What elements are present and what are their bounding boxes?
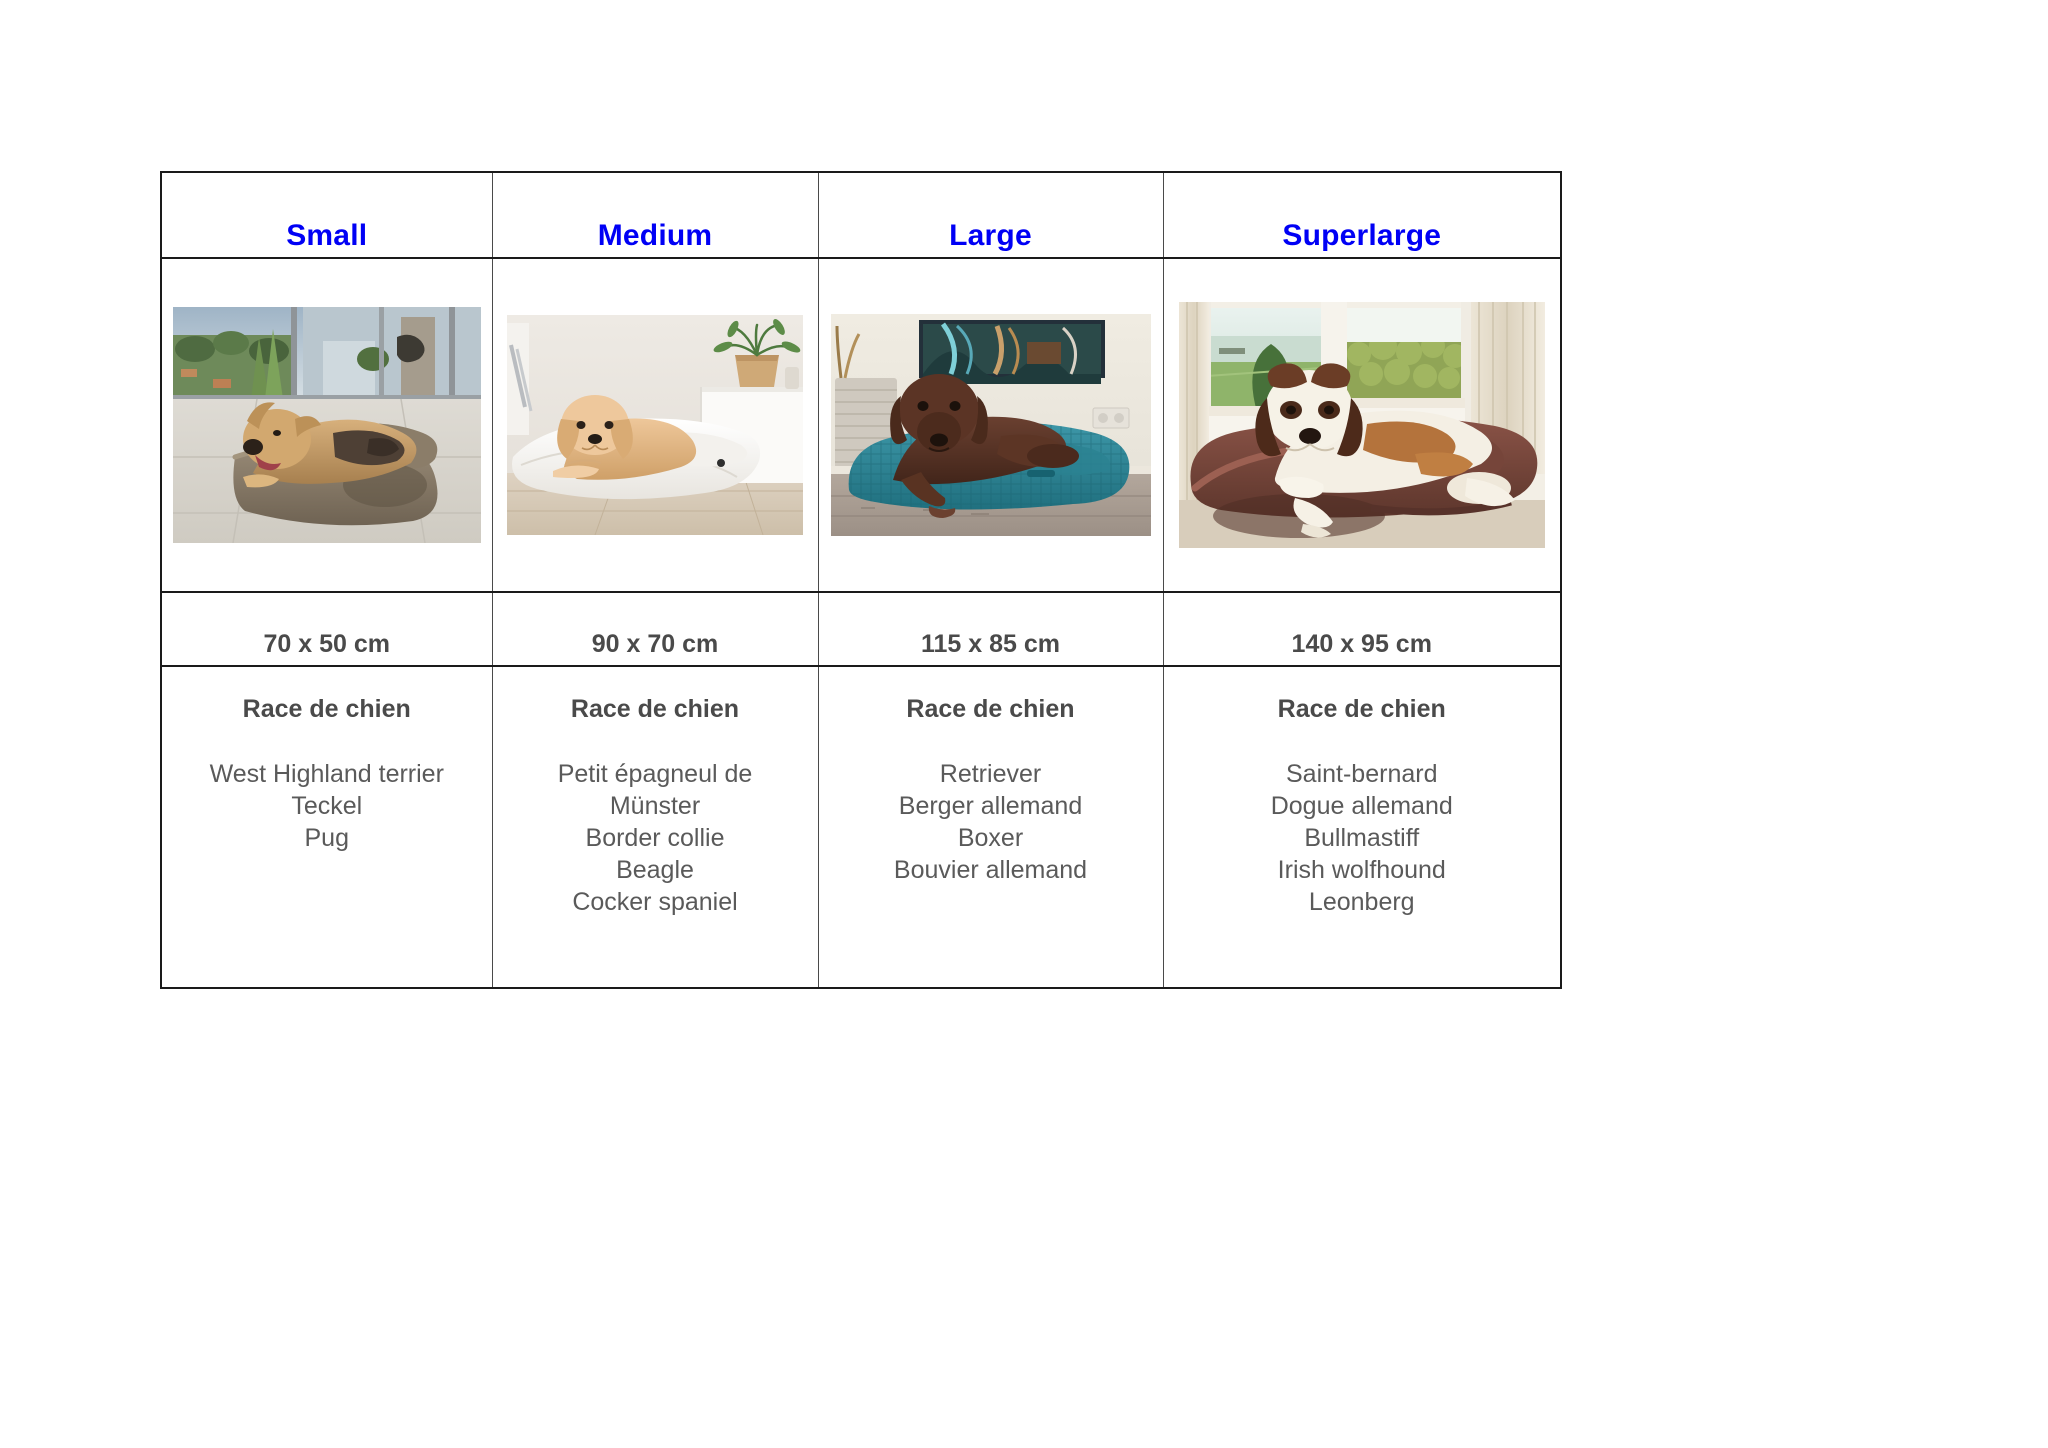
photo-wrap-small <box>162 259 492 591</box>
table-image-row <box>161 258 1561 592</box>
table-dimensions-row: 70 x 50 cm 90 x 70 cm 115 x 85 cm 140 x … <box>161 592 1561 666</box>
breed-item: Dogue allemand <box>1164 790 1561 822</box>
photo-small-dog-bed <box>173 307 481 543</box>
table-header-row: Small Medium Large Superlarge <box>161 172 1561 258</box>
breeds-cell-small: Race de chien West Highland terrier Teck… <box>161 666 492 988</box>
breed-item: Irish wolfhound <box>1164 854 1561 886</box>
breed-title-large: Race de chien <box>819 697 1163 722</box>
breed-item: Berger allemand <box>819 790 1163 822</box>
breed-item: Cocker spaniel <box>493 886 818 918</box>
dimension-cell-medium: 90 x 70 cm <box>492 592 818 666</box>
breed-title-superlarge: Race de chien <box>1164 697 1561 722</box>
breed-item: Bullmastiff <box>1164 822 1561 854</box>
breed-list-large: Retriever Berger allemand Boxer Bouvier … <box>819 758 1163 886</box>
dimension-large: 115 x 85 cm <box>819 632 1163 657</box>
header-cell-small: Small <box>161 172 492 258</box>
breeds-cell-superlarge: Race de chien Saint-bernard Dogue allema… <box>1163 666 1561 988</box>
breed-list-small: West Highland terrier Teckel Pug <box>162 758 492 854</box>
breed-item: Beagle <box>493 854 818 886</box>
dimension-superlarge: 140 x 95 cm <box>1164 632 1561 657</box>
page-canvas: Small Medium Large Superlarge <box>0 0 2048 1448</box>
table-breeds-row: Race de chien West Highland terrier Teck… <box>161 666 1561 988</box>
photo-wrap-large <box>819 259 1163 591</box>
breed-item: West Highland terrier <box>162 758 492 790</box>
size-header-small: Small <box>162 221 492 251</box>
image-cell-large <box>818 258 1163 592</box>
breed-item: Teckel <box>162 790 492 822</box>
breeds-cell-medium: Race de chien Petit épagneul de Münster … <box>492 666 818 988</box>
header-cell-large: Large <box>818 172 1163 258</box>
breed-item: Retriever <box>819 758 1163 790</box>
image-cell-medium <box>492 258 818 592</box>
breed-item: Border collie <box>493 822 818 854</box>
breed-item: Bouvier allemand <box>819 854 1163 886</box>
photo-wrap-superlarge <box>1164 259 1561 591</box>
size-header-medium: Medium <box>493 221 818 251</box>
breed-item: Saint-bernard <box>1164 758 1561 790</box>
dimension-small: 70 x 50 cm <box>162 632 492 657</box>
photo-superlarge-dog-bed <box>1179 302 1545 548</box>
breed-list-medium: Petit épagneul de Münster Border collie … <box>493 758 818 918</box>
breed-item: Petit épagneul de Münster <box>493 758 818 822</box>
breed-list-superlarge: Saint-bernard Dogue allemand Bullmastiff… <box>1164 758 1561 918</box>
dimension-cell-small: 70 x 50 cm <box>161 592 492 666</box>
breed-title-medium: Race de chien <box>493 697 818 722</box>
breed-item: Boxer <box>819 822 1163 854</box>
image-cell-small <box>161 258 492 592</box>
image-cell-superlarge <box>1163 258 1561 592</box>
photo-wrap-medium <box>493 259 818 591</box>
breed-title-small: Race de chien <box>162 697 492 722</box>
dimension-cell-large: 115 x 85 cm <box>818 592 1163 666</box>
breeds-cell-large: Race de chien Retriever Berger allemand … <box>818 666 1163 988</box>
dimension-medium: 90 x 70 cm <box>493 632 818 657</box>
breed-item: Leonberg <box>1164 886 1561 918</box>
breed-item: Pug <box>162 822 492 854</box>
dog-bed-size-table: Small Medium Large Superlarge <box>160 171 1562 989</box>
header-cell-medium: Medium <box>492 172 818 258</box>
size-header-large: Large <box>819 221 1163 251</box>
photo-medium-dog-bed <box>507 315 803 535</box>
header-cell-superlarge: Superlarge <box>1163 172 1561 258</box>
size-header-superlarge: Superlarge <box>1164 221 1561 251</box>
photo-large-dog-bed <box>831 314 1151 536</box>
dimension-cell-superlarge: 140 x 95 cm <box>1163 592 1561 666</box>
